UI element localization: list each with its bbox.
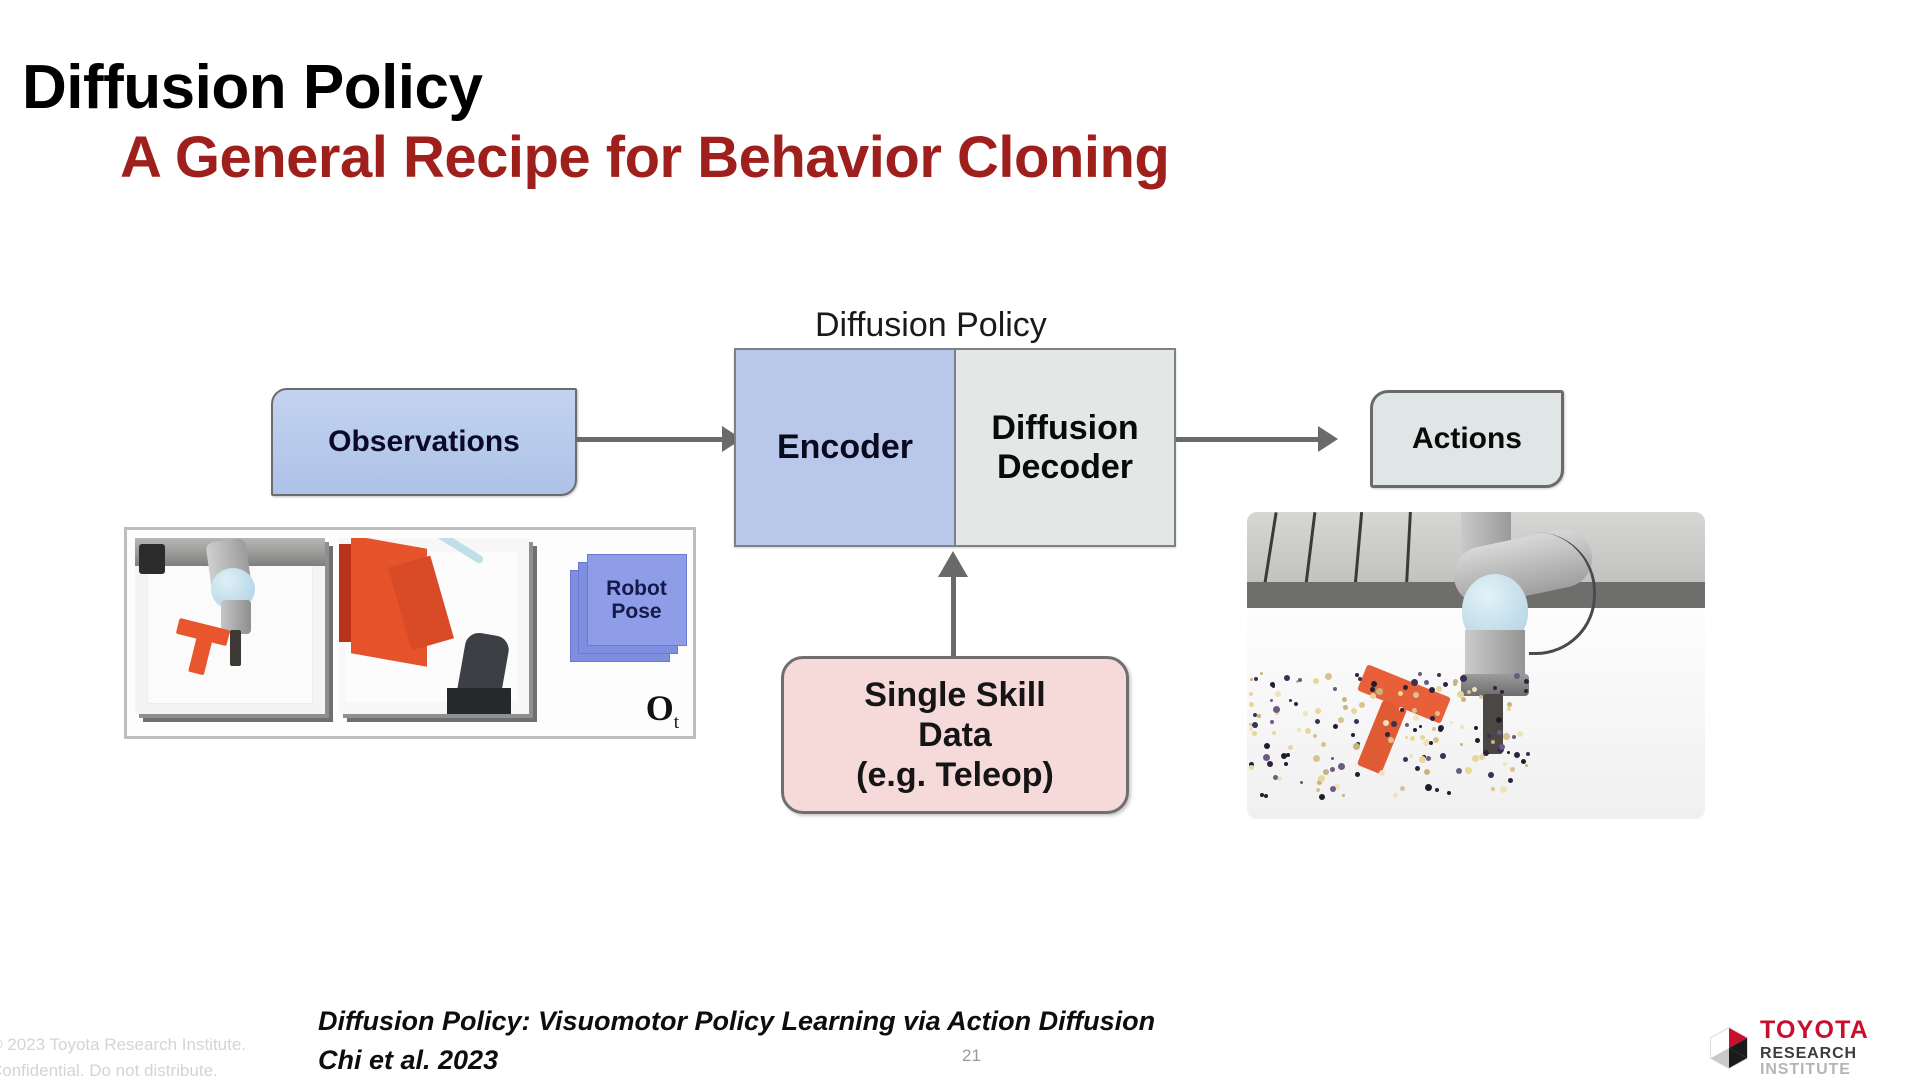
camera-image-wrist <box>339 538 529 714</box>
tri-wordmark: TOYOTA RESEARCH INSTITUTE <box>1760 1018 1907 1078</box>
single-skill-data-label: Single SkillData(e.g. Teleop) <box>856 675 1054 795</box>
tri-hexagon-mark-icon <box>1707 1026 1751 1070</box>
page-number: 21 <box>962 1046 981 1066</box>
actions-label: Actions <box>1412 422 1522 456</box>
page-title: Diffusion Policy <box>22 52 482 123</box>
arrow-skilldata-to-decoder-head-icon <box>938 551 968 577</box>
arrow-decoder-to-actions-line <box>1176 437 1321 442</box>
robot-pushing-t-block-photo <box>1247 512 1705 819</box>
diffusion-policy-module: Encoder DiffusionDecoder <box>734 348 1176 547</box>
copyright-notice: © 2023 Toyota Research Institute. Confid… <box>0 1032 246 1083</box>
camera-view-scene <box>135 538 334 728</box>
copyright-line-1: © 2023 Toyota Research Institute. <box>0 1032 246 1058</box>
robot-pose-label: RobotPose <box>606 577 667 623</box>
citation-authors: Chi et al. 2023 <box>318 1041 1155 1080</box>
page-subtitle: A General Recipe for Behavior Cloning <box>120 124 1169 191</box>
encoder-label: Encoder <box>777 428 913 467</box>
tri-toyota-text: TOYOTA <box>1760 1018 1907 1043</box>
camera-image-scene <box>135 538 325 714</box>
observations-box: Observations <box>271 388 577 496</box>
citation-title: Diffusion Policy: Visuomotor Policy Lear… <box>318 1002 1155 1041</box>
robot-pose-card-front: RobotPose <box>587 554 687 646</box>
actions-box: Actions <box>1370 390 1564 488</box>
copyright-line-2: Confidential. Do not distribute. <box>0 1058 246 1083</box>
observation-symbol: Ot <box>646 687 679 734</box>
tri-research-institute-text: RESEARCH INSTITUTE <box>1760 1046 1907 1078</box>
citation: Diffusion Policy: Visuomotor Policy Lear… <box>318 1002 1155 1080</box>
robot-pose-card-stack: RobotPose <box>570 554 686 674</box>
arrow-decoder-to-actions-head-icon <box>1318 426 1338 452</box>
arrow-skilldata-to-decoder-line <box>951 570 956 658</box>
slide-canvas: Diffusion Policy A General Recipe for Be… <box>0 0 1930 1082</box>
diffusion-decoder-label: DiffusionDecoder <box>991 409 1138 485</box>
observations-label: Observations <box>328 425 520 459</box>
diffusion-policy-group-label: Diffusion Policy <box>815 306 1047 345</box>
diffusion-decoder-box: DiffusionDecoder <box>956 350 1174 545</box>
observation-panel: RobotPose Ot <box>124 527 696 739</box>
camera-view-wrist <box>339 538 538 728</box>
single-skill-data-box: Single SkillData(e.g. Teleop) <box>781 656 1129 814</box>
toyota-research-institute-logo: TOYOTA RESEARCH INSTITUTE <box>1707 1023 1907 1073</box>
encoder-box: Encoder <box>736 350 956 545</box>
arrow-observations-to-encoder-line <box>575 437 725 442</box>
